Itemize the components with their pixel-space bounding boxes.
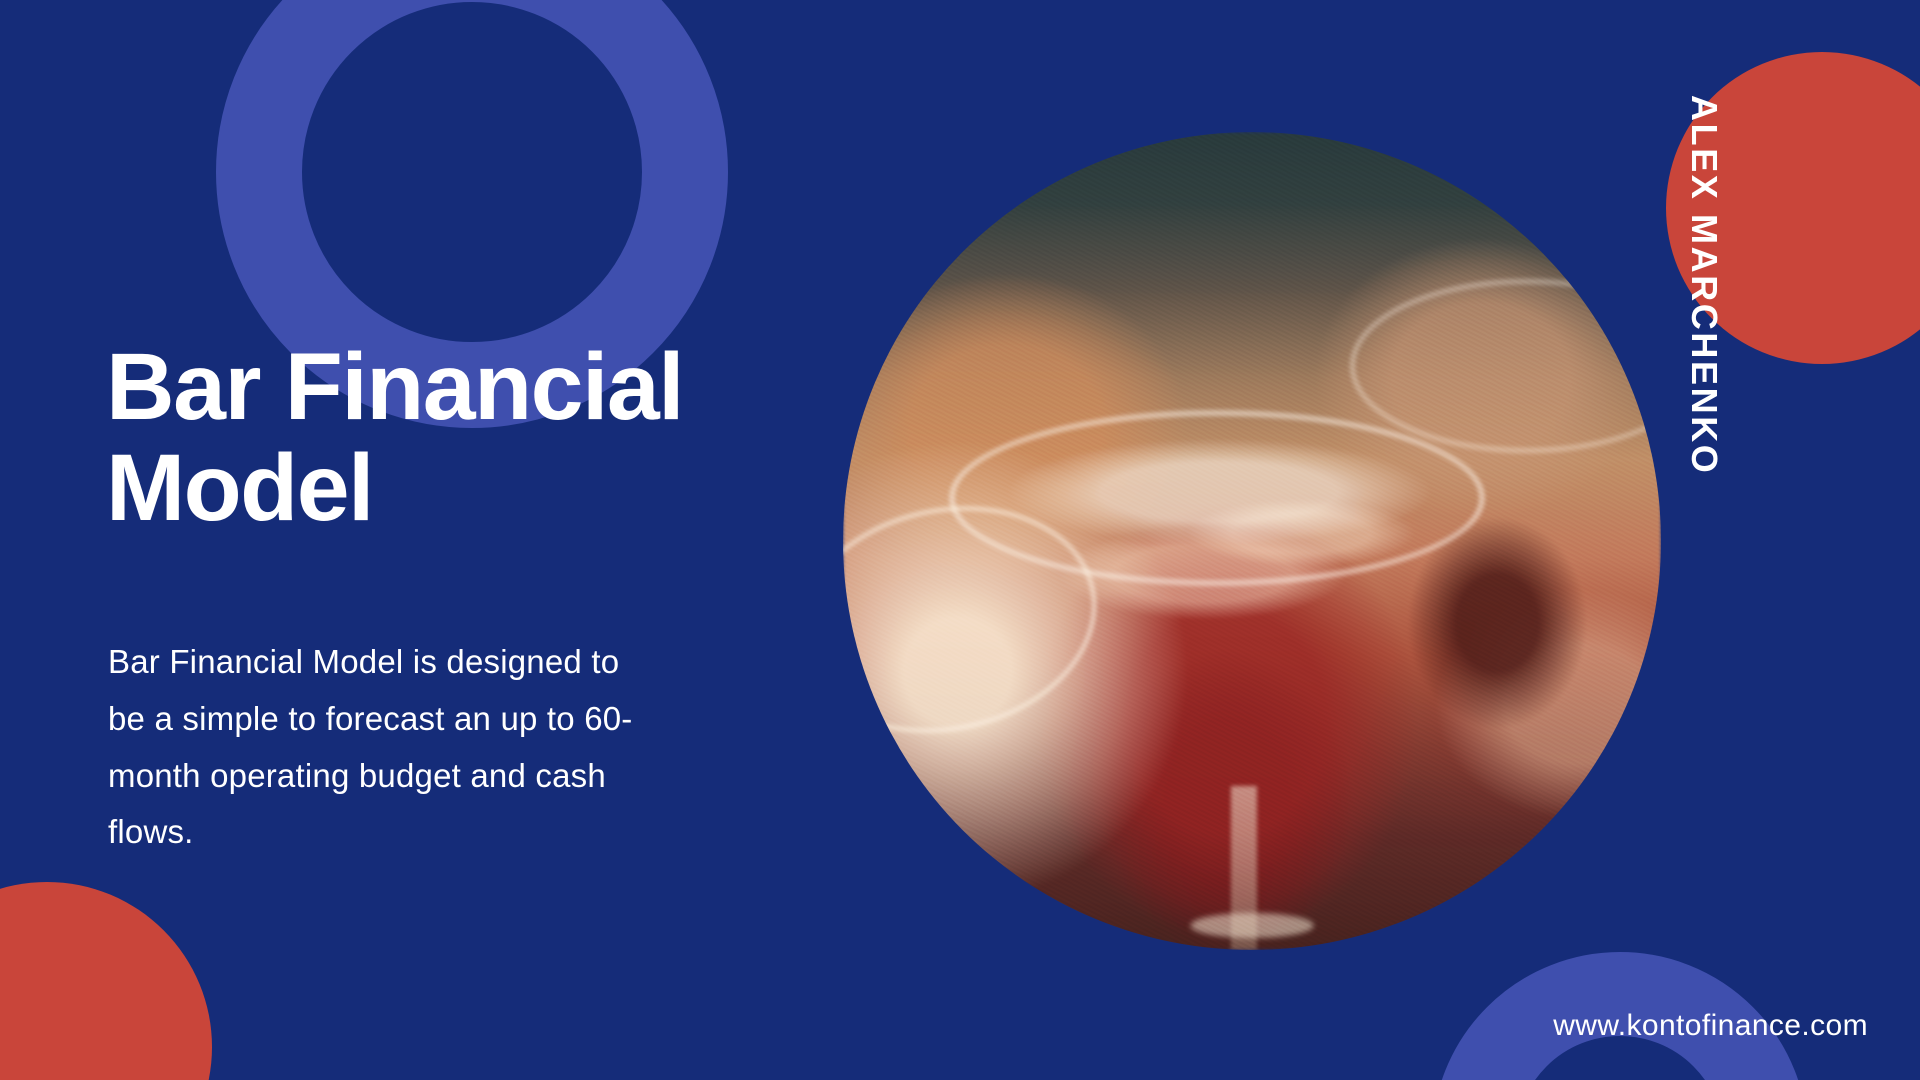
- website-url: www.kontofinance.com: [1553, 1009, 1868, 1043]
- page-title: Bar Financial Model: [106, 337, 806, 538]
- author-name-vertical: ALEX MARCHENKO: [1683, 95, 1725, 475]
- subtitle-description: Bar Financial Model is designed to be a …: [108, 634, 638, 861]
- presentation-slide: Bar Financial Model Bar Financial Model …: [0, 0, 1920, 1080]
- photo-grain-overlay: [843, 132, 1661, 950]
- decorative-circle-bottom-left-icon: [0, 882, 212, 1080]
- cocktail-photo: [843, 132, 1661, 950]
